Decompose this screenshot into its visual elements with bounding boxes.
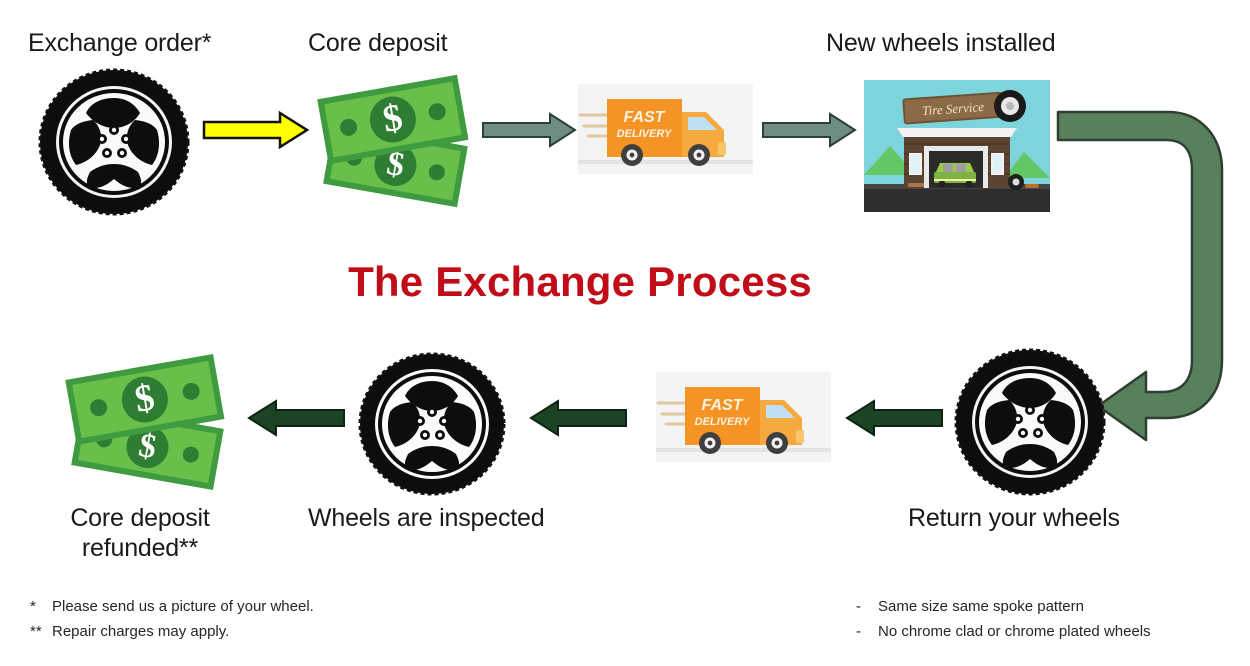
money-icon-refund: $ $ (58, 352, 238, 487)
arrow-inspection-to-refund (246, 398, 346, 438)
arrow-order-to-deposit (202, 110, 310, 150)
footnote-right-1: -Same size same spoke pattern (856, 594, 1084, 619)
footnote-left-2: **Repair charges may apply. (30, 619, 229, 644)
svg-text:FAST: FAST (702, 397, 744, 414)
footnote-left-1: *Please send us a picture of your wheel. (30, 594, 314, 619)
svg-text:FAST: FAST (624, 109, 666, 126)
exchange-process-diagram: Exchange order* Core deposit New wheels … (0, 0, 1250, 666)
footnote-mark: ** (30, 619, 52, 644)
arrow-truck-to-inspection (528, 398, 628, 438)
rim-wheel-icon-inspected (358, 352, 506, 496)
label-core-deposit-refunded-line2: refunded** (40, 533, 240, 563)
svg-text:DELIVERY: DELIVERY (617, 128, 673, 140)
page-title: The Exchange Process (0, 258, 1160, 306)
money-icon-core-deposit: $ $ (312, 72, 480, 207)
label-new-wheels-installed: New wheels installed (826, 28, 1055, 58)
tire-service-shop-icon: Tire Service (864, 80, 1050, 212)
wheel-icon (38, 68, 190, 216)
delivery-truck-icon-shipping-back: FAST DELIVERY (656, 372, 831, 462)
delivery-truck-icon: FAST DELIVERY (578, 84, 753, 174)
arrow-left-icon (528, 398, 628, 438)
label-wheels-are-inspected: Wheels are inspected (308, 503, 544, 533)
footnote-mark: - (856, 594, 878, 619)
money-icon: $ $ (58, 352, 238, 487)
footnote-mark: - (856, 619, 878, 644)
arrow-right-icon (202, 110, 310, 150)
arrow-return-to-truck (844, 398, 944, 438)
delivery-truck-icon-shipping-out: FAST DELIVERY (578, 84, 753, 174)
rim-wheel-icon (358, 352, 506, 496)
label-core-deposit-refunded-line1: Core deposit (40, 503, 240, 533)
footnote-mark: * (30, 594, 52, 619)
wheel-icon-return (954, 348, 1106, 496)
footnote-text: Same size same spoke pattern (878, 598, 1084, 615)
arrow-right-icon (762, 112, 858, 148)
tire-service-shop-icon: Tire Service (864, 80, 1050, 212)
wheel-icon (954, 348, 1106, 496)
arrow-left-icon (246, 398, 346, 438)
footnote-right-2: -No chrome clad or chrome plated wheels (856, 619, 1151, 644)
arrow-truck-to-shop (762, 112, 858, 148)
label-return-your-wheels: Return your wheels (908, 503, 1120, 533)
label-core-deposit: Core deposit (308, 28, 447, 58)
arrow-right-icon (482, 112, 578, 148)
money-icon: $ $ (312, 72, 480, 207)
svg-text:DELIVERY: DELIVERY (695, 416, 751, 428)
arrow-left-icon (844, 398, 944, 438)
delivery-truck-icon: FAST DELIVERY (656, 372, 831, 462)
label-exchange-order: Exchange order* (28, 28, 211, 58)
footnote-text: No chrome clad or chrome plated wheels (878, 623, 1151, 640)
arrow-deposit-to-truck (482, 112, 578, 148)
wheel-icon-exchange-order (38, 68, 190, 216)
footnote-text: Repair charges may apply. (52, 623, 229, 640)
footnote-text: Please send us a picture of your wheel. (52, 598, 314, 615)
